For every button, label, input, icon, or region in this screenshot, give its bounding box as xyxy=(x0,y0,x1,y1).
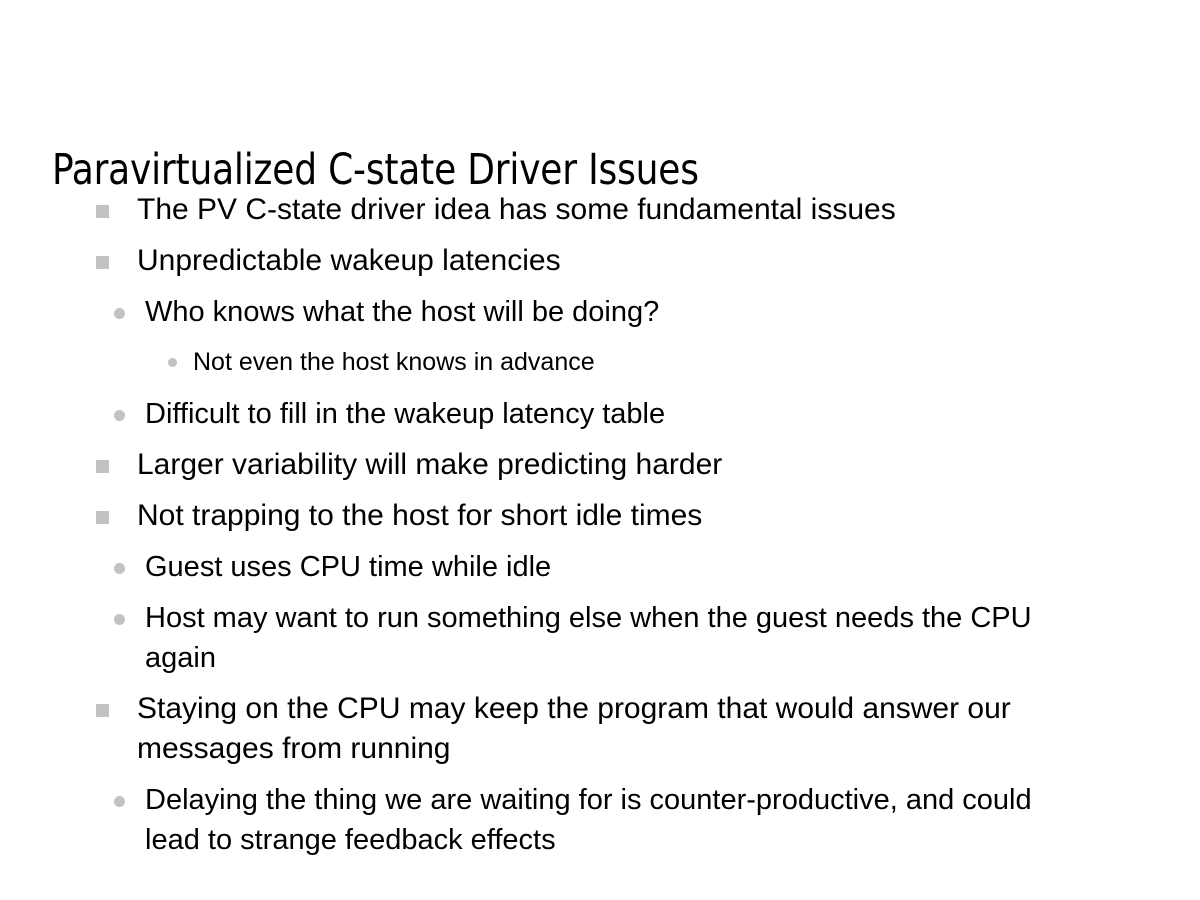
bullet-text: Larger variability will make predicting … xyxy=(137,445,1017,485)
bullet-item-level-2: Host may want to run something else when… xyxy=(0,598,1200,678)
bullet-text: Guest uses CPU time while idle xyxy=(145,547,1093,587)
square-bullet-icon xyxy=(96,511,109,524)
bullet-item-level-2: Difficult to fill in the wakeup latency … xyxy=(0,394,1200,434)
bullet-text: Unpredictable wakeup latencies xyxy=(137,241,1017,281)
bullet-text: Not trapping to the host for short idle … xyxy=(137,496,1017,536)
round-bullet-icon xyxy=(114,614,125,625)
square-bullet-icon xyxy=(96,205,109,218)
square-bullet-icon xyxy=(96,704,109,717)
bullet-item-level-1: Not trapping to the host for short idle … xyxy=(0,496,1200,536)
bullet-item-level-1: Larger variability will make predicting … xyxy=(0,445,1200,485)
bullet-text: Delaying the thing we are waiting for is… xyxy=(145,780,1093,860)
bullet-item-level-1: The PV C-state driver idea has some fund… xyxy=(0,190,1200,230)
round-bullet-icon xyxy=(114,796,125,807)
bullet-item-level-1: Staying on the CPU may keep the program … xyxy=(0,689,1200,769)
round-bullet-icon xyxy=(168,358,177,367)
bullet-text: Difficult to fill in the wakeup latency … xyxy=(145,394,1093,434)
square-bullet-icon xyxy=(96,460,109,473)
round-bullet-icon xyxy=(114,410,125,421)
bullet-text: Who knows what the host will be doing? xyxy=(145,292,1093,332)
bullet-item-level-2: Delaying the thing we are waiting for is… xyxy=(0,780,1200,860)
bullet-text: Not even the host knows in advance xyxy=(193,343,1033,381)
slide-title: Paravirtualized C-state Driver Issues xyxy=(52,147,1075,193)
slide-bullet-list: The PV C-state driver idea has some fund… xyxy=(0,190,1200,871)
square-bullet-icon xyxy=(96,256,109,269)
bullet-item-level-2: Guest uses CPU time while idle xyxy=(0,547,1200,587)
bullet-item-level-1: Unpredictable wakeup latencies xyxy=(0,241,1200,281)
bullet-item-level-2: Who knows what the host will be doing? xyxy=(0,292,1200,332)
round-bullet-icon xyxy=(114,308,125,319)
round-bullet-icon xyxy=(114,563,125,574)
bullet-text: Staying on the CPU may keep the program … xyxy=(137,689,1017,769)
bullet-text: The PV C-state driver idea has some fund… xyxy=(137,190,1017,230)
bullet-item-level-3: Not even the host knows in advance xyxy=(0,343,1200,381)
presentation-slide: Paravirtualized C-state Driver Issues Th… xyxy=(0,0,1200,900)
bullet-text: Host may want to run something else when… xyxy=(145,598,1093,678)
